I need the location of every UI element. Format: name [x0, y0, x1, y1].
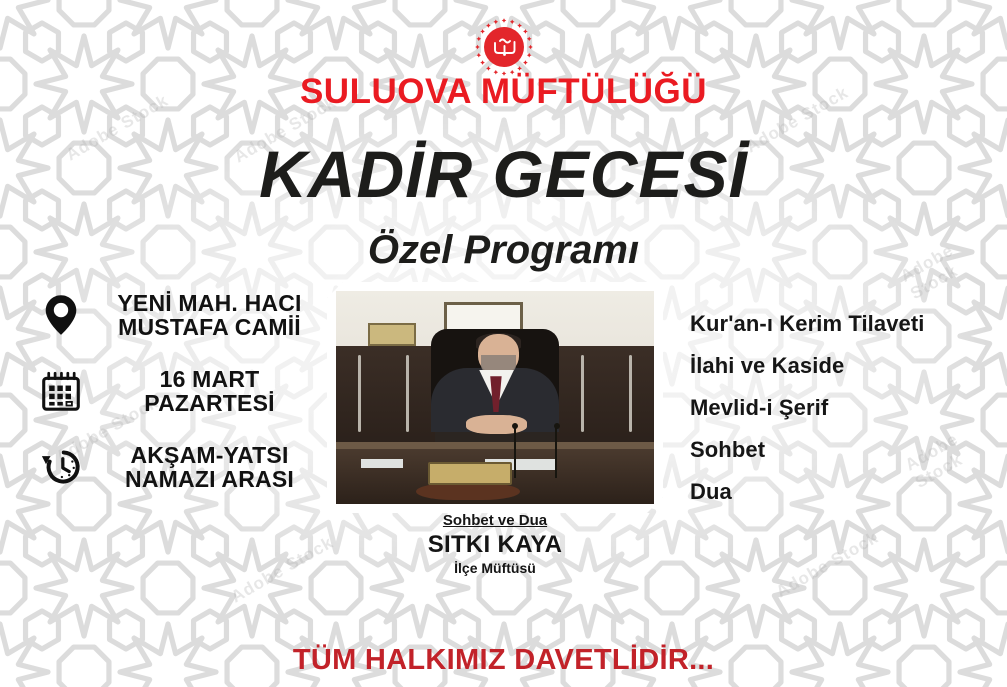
list-item-text: 16 MART PAZARTESİ: [96, 367, 323, 415]
speaker-title: İlçe Müftüsü: [327, 560, 663, 577]
photo-image: [336, 291, 654, 504]
list-item: 16 MART PAZARTESİ: [38, 366, 323, 416]
program-list: Kur'an-ı Kerim Tilaveti İlahi ve Kaside …: [690, 311, 990, 521]
page-title: KADİR GECESİ: [0, 136, 1007, 212]
detail-line-2: PAZARTESİ: [96, 391, 323, 415]
list-item: İlahi ve Kaside: [690, 353, 990, 379]
detail-line-2: NAMAZI ARASI: [96, 467, 323, 491]
photo-caption: Sohbet ve Dua SITKI KAYA İlçe Müftüsü: [327, 512, 663, 577]
poster-canvas: Adobe Stock Adobe Stock Adobe Stock Adob…: [0, 0, 1007, 687]
invitation-footer: TÜM HALKIMIZ DAVETLİDİR...: [0, 644, 1007, 677]
mufti-crest-icon: [473, 16, 535, 78]
detail-line-2: MUSTAFA CAMİİ: [96, 315, 323, 339]
list-item: Sohbet: [690, 437, 990, 463]
list-item-text: AKŞAM-YATSI NAMAZI ARASI: [96, 443, 323, 491]
list-item: Kur'an-ı Kerim Tilaveti: [690, 311, 990, 337]
detail-line-1: YENİ MAH. HACI: [117, 290, 301, 316]
organization-title: SULUOVA MÜFTÜLÜĞÜ: [0, 72, 1007, 112]
list-item-text: YENİ MAH. HACI MUSTAFA CAMİİ: [96, 291, 323, 339]
clock-arrow-icon: [38, 442, 84, 492]
speaker-name: SITKI KAYA: [327, 530, 663, 560]
detail-line-1: AKŞAM-YATSI: [130, 442, 288, 468]
calendar-icon: [38, 366, 84, 416]
detail-line-1: 16 MART: [160, 366, 260, 392]
location-pin-icon: [38, 290, 84, 340]
page-subtitle: Özel Programı: [0, 228, 1007, 273]
list-item: Dua: [690, 479, 990, 505]
event-details-list: YENİ MAH. HACI MUSTAFA CAMİİ: [38, 290, 323, 518]
portrait-photo: [327, 282, 663, 513]
speaker-role: Sohbet ve Dua: [327, 512, 663, 530]
list-item: Mevlid-i Şerif: [690, 395, 990, 421]
list-item: YENİ MAH. HACI MUSTAFA CAMİİ: [38, 290, 323, 340]
list-item: AKŞAM-YATSI NAMAZI ARASI: [38, 442, 323, 492]
